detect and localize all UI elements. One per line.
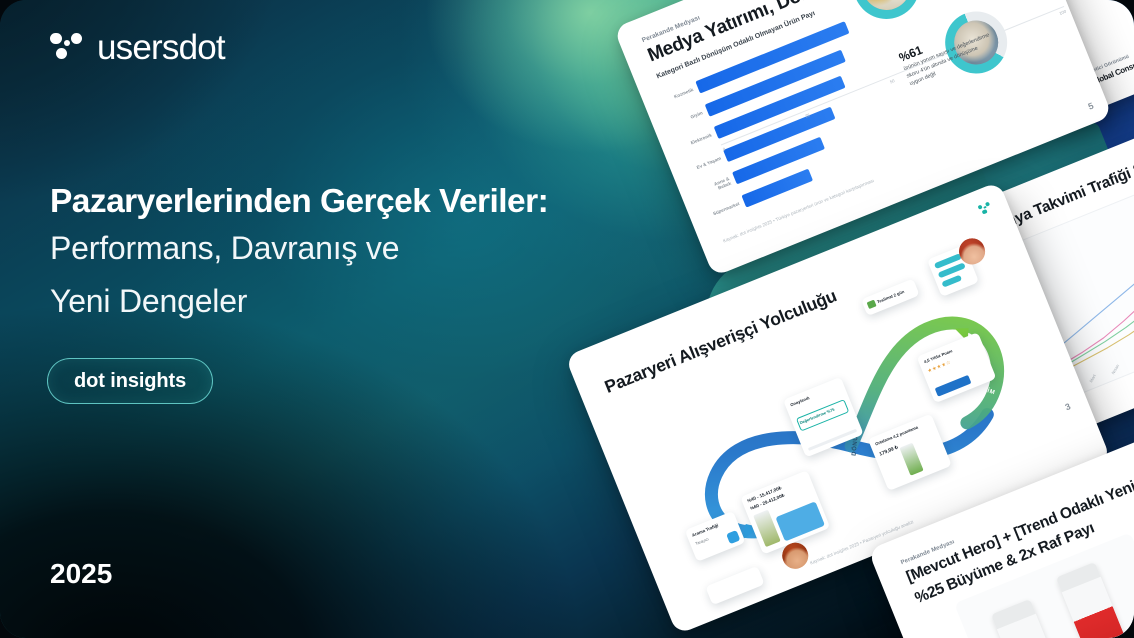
poster-content: usersdot Pazaryerlerinden Gerçek Veriler… <box>50 0 670 638</box>
bar-category-label: Süpermarket <box>711 199 744 216</box>
line-x-tick: Nisan <box>1110 363 1120 375</box>
poster-canvas: Küresel Tüketici Görünümü PwC's Global C… <box>0 0 1134 638</box>
truck-icon <box>867 300 877 309</box>
page-title: Pazaryerlerinden Gerçek Veriler: Perform… <box>50 182 660 328</box>
headline-line-3: Yeni Dengeler <box>50 275 660 328</box>
bar-category-label: Kozmetik <box>665 85 698 102</box>
line-x-tick: Mart <box>1088 373 1097 383</box>
product-bottle-red <box>1056 562 1134 638</box>
year-label: 2025 <box>50 558 112 590</box>
bar-x-tick: 50 <box>888 76 896 88</box>
brand-logo[interactable]: usersdot <box>50 30 225 65</box>
dot-insights-badge[interactable]: dot insights <box>47 358 213 404</box>
dot-insights-badge-label: dot insights <box>74 370 186 393</box>
bar-category-label: Giyim <box>675 108 708 125</box>
brand-name: usersdot <box>97 30 225 65</box>
usersdot-dots-icon <box>50 31 84 65</box>
traffic-icon <box>726 530 740 544</box>
headline-line-1: Pazaryerlerinden Gerçek Veriler: <box>50 182 660 222</box>
journey-node-traffic-sub: Tarayıcı <box>695 536 710 546</box>
journey-node-delivery-title: Teslimat 2 gün <box>876 289 905 305</box>
journey-node-traffic-title: Arama Trafiği <box>691 523 719 538</box>
product-thumb-2 <box>899 443 923 476</box>
bar-category-label: Anne & Bebek <box>701 174 736 196</box>
journey-node-rating-sub: 179,99 ₺ <box>878 445 899 458</box>
bar-category-label: Elektronik <box>684 131 717 148</box>
product-bottle-green <box>991 599 1071 638</box>
journey-node-conversion-title: Onaylandı <box>790 395 811 407</box>
bar-x-tick: 25 <box>804 110 812 122</box>
bar-category-label: Ev & Yaşam <box>693 153 726 170</box>
product-thumb <box>753 510 781 548</box>
headline-line-2: Performans, Davranış ve <box>50 222 660 275</box>
bar-slide-page-number: 5 <box>1087 101 1095 112</box>
bar-x-tick: 100 <box>1058 7 1069 20</box>
